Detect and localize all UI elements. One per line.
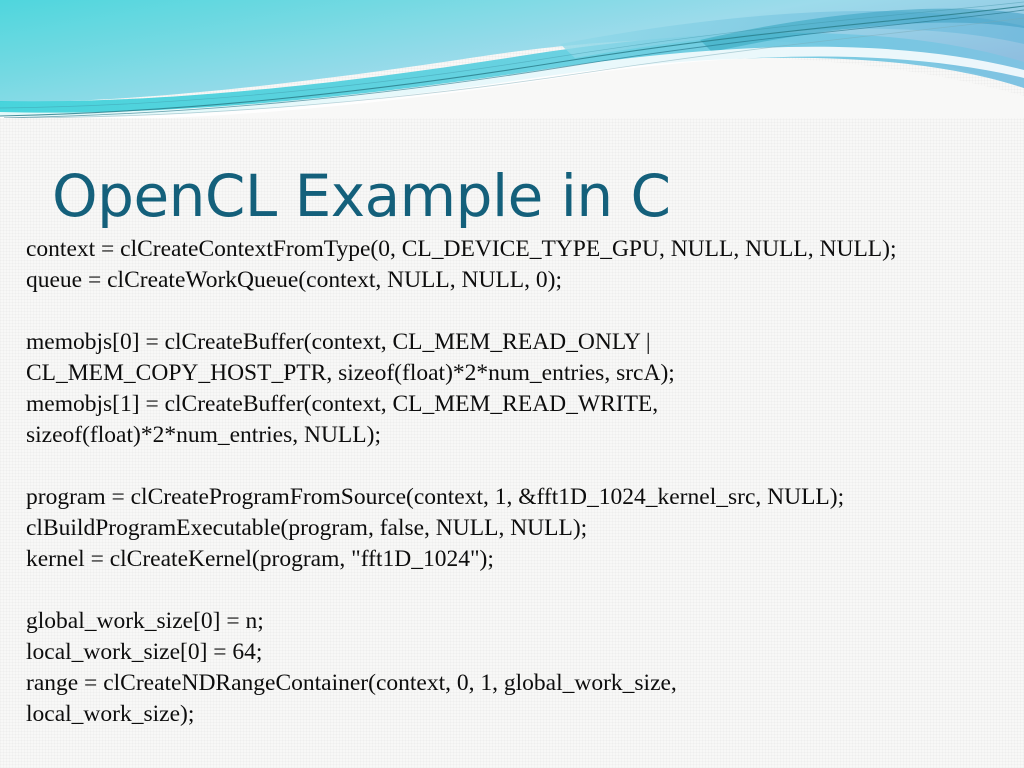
code-block: global_work_size[0] = n;local_work_size[… xyxy=(26,606,1006,730)
code-line: sizeof(float)*2*num_entries, NULL); xyxy=(26,420,1006,451)
code-line: global_work_size[0] = n; xyxy=(26,606,1006,637)
code-line: clBuildProgramExecutable(program, false,… xyxy=(26,513,1006,544)
code-line: local_work_size); xyxy=(26,699,1006,730)
code-block: memobjs[0] = clCreateBuffer(context, CL_… xyxy=(26,327,1006,451)
code-line: CL_MEM_COPY_HOST_PTR, sizeof(float)*2*nu… xyxy=(26,358,1006,389)
code-line: queue = clCreateWorkQueue(context, NULL,… xyxy=(26,265,1006,296)
presentation-slide: OpenCL Example in C context = clCreateCo… xyxy=(0,0,1024,768)
code-line: range = clCreateNDRangeContainer(context… xyxy=(26,668,1006,699)
code-line: program = clCreateProgramFromSource(cont… xyxy=(26,482,1006,513)
code-line: memobjs[0] = clCreateBuffer(context, CL_… xyxy=(26,327,1006,358)
code-block: program = clCreateProgramFromSource(cont… xyxy=(26,482,1006,575)
code-line: context = clCreateContextFromType(0, CL_… xyxy=(26,234,1006,265)
code-line: kernel = clCreateKernel(program, "fft1D_… xyxy=(26,544,1006,575)
page-title: OpenCL Example in C xyxy=(52,163,671,230)
code-block: context = clCreateContextFromType(0, CL_… xyxy=(26,234,1006,296)
code-line: memobjs[1] = clCreateBuffer(context, CL_… xyxy=(26,389,1006,420)
code-body: context = clCreateContextFromType(0, CL_… xyxy=(26,234,1006,730)
code-line: local_work_size[0] = 64; xyxy=(26,637,1006,668)
decorative-wave-banner xyxy=(0,0,1024,118)
